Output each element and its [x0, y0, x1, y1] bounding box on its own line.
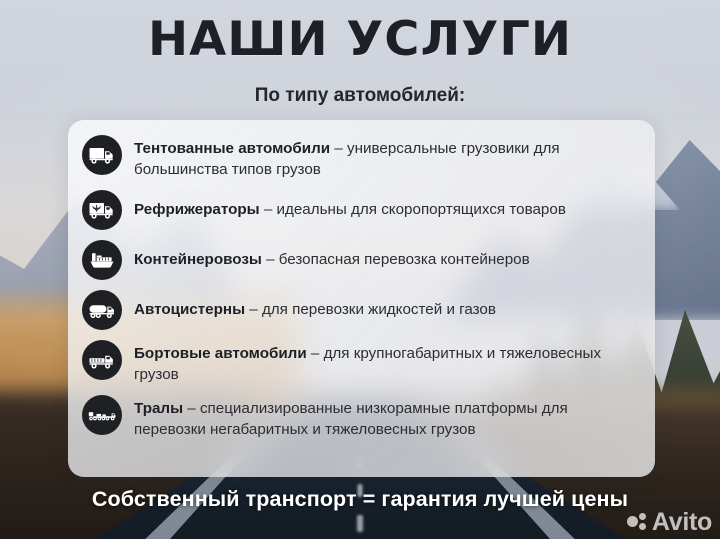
- list-item-text: Тентованные автомобили – универсальные г…: [134, 134, 637, 180]
- service-description: идеальны для скоропортящихся товаров: [277, 201, 566, 218]
- list-item: Автоцистерны – для перевозки жидкостей и…: [82, 289, 637, 330]
- lowboy-trailer-icon: [82, 395, 122, 435]
- service-description: безопасная перевозка контейнеров: [279, 251, 530, 268]
- tanker-truck-icon: [82, 290, 122, 330]
- list-item: Контейнеровозы – безопасная перевозка ко…: [82, 239, 637, 280]
- box-truck-icon: [82, 135, 122, 175]
- service-dash: –: [260, 201, 277, 218]
- service-name: Тентованные автомобили: [134, 140, 330, 157]
- promo-poster: НАШИ УСЛУГИ По типу автомобилей: Тентова…: [0, 0, 720, 539]
- list-item-text: Тралы – специализированные низкорамные п…: [134, 394, 637, 440]
- service-name: Тралы: [134, 400, 183, 417]
- service-name: Автоцистерны: [134, 301, 245, 318]
- service-name: Бортовые автомобили: [134, 345, 307, 362]
- list-item-text: Рефрижераторы – идеальны для скоропортящ…: [134, 189, 566, 220]
- service-description: для перевозки жидкостей и газов: [262, 301, 496, 318]
- refrigerator-truck-icon: [82, 190, 122, 230]
- service-dash: –: [245, 301, 262, 318]
- flatbed-truck-icon: [82, 340, 122, 380]
- list-item: Бортовые автомобили – для крупногабаритн…: [82, 339, 637, 385]
- container-ship-icon: [82, 240, 122, 280]
- avito-brand-text: Avito: [652, 510, 712, 535]
- service-name: Рефрижераторы: [134, 201, 260, 218]
- service-name: Контейнеровозы: [134, 251, 262, 268]
- page-subtitle: По типу автомобилей:: [0, 85, 720, 107]
- footer-tagline: Собственный транспорт = гарантия лучшей …: [0, 487, 720, 512]
- service-dash: –: [307, 345, 324, 362]
- avito-dots-logo-icon: [627, 512, 651, 534]
- service-dash: –: [330, 140, 347, 157]
- page-title: НАШИ УСЛУГИ: [0, 16, 720, 63]
- list-item: Тентованные автомобили – универсальные г…: [82, 134, 637, 180]
- avito-watermark: Avito: [627, 510, 712, 535]
- service-dash: –: [183, 400, 200, 417]
- list-item-text: Автоцистерны – для перевозки жидкостей и…: [134, 289, 496, 320]
- list-item: Тралы – специализированные низкорамные п…: [82, 394, 637, 440]
- services-card: Тентованные автомобили – универсальные г…: [68, 120, 655, 477]
- service-description: специализированные низкорамные платформы…: [134, 400, 568, 438]
- list-item-text: Контейнеровозы – безопасная перевозка ко…: [134, 239, 530, 270]
- list-item: Рефрижераторы – идеальны для скоропортящ…: [82, 189, 637, 230]
- list-item-text: Бортовые автомобили – для крупногабаритн…: [134, 339, 637, 385]
- service-dash: –: [262, 251, 279, 268]
